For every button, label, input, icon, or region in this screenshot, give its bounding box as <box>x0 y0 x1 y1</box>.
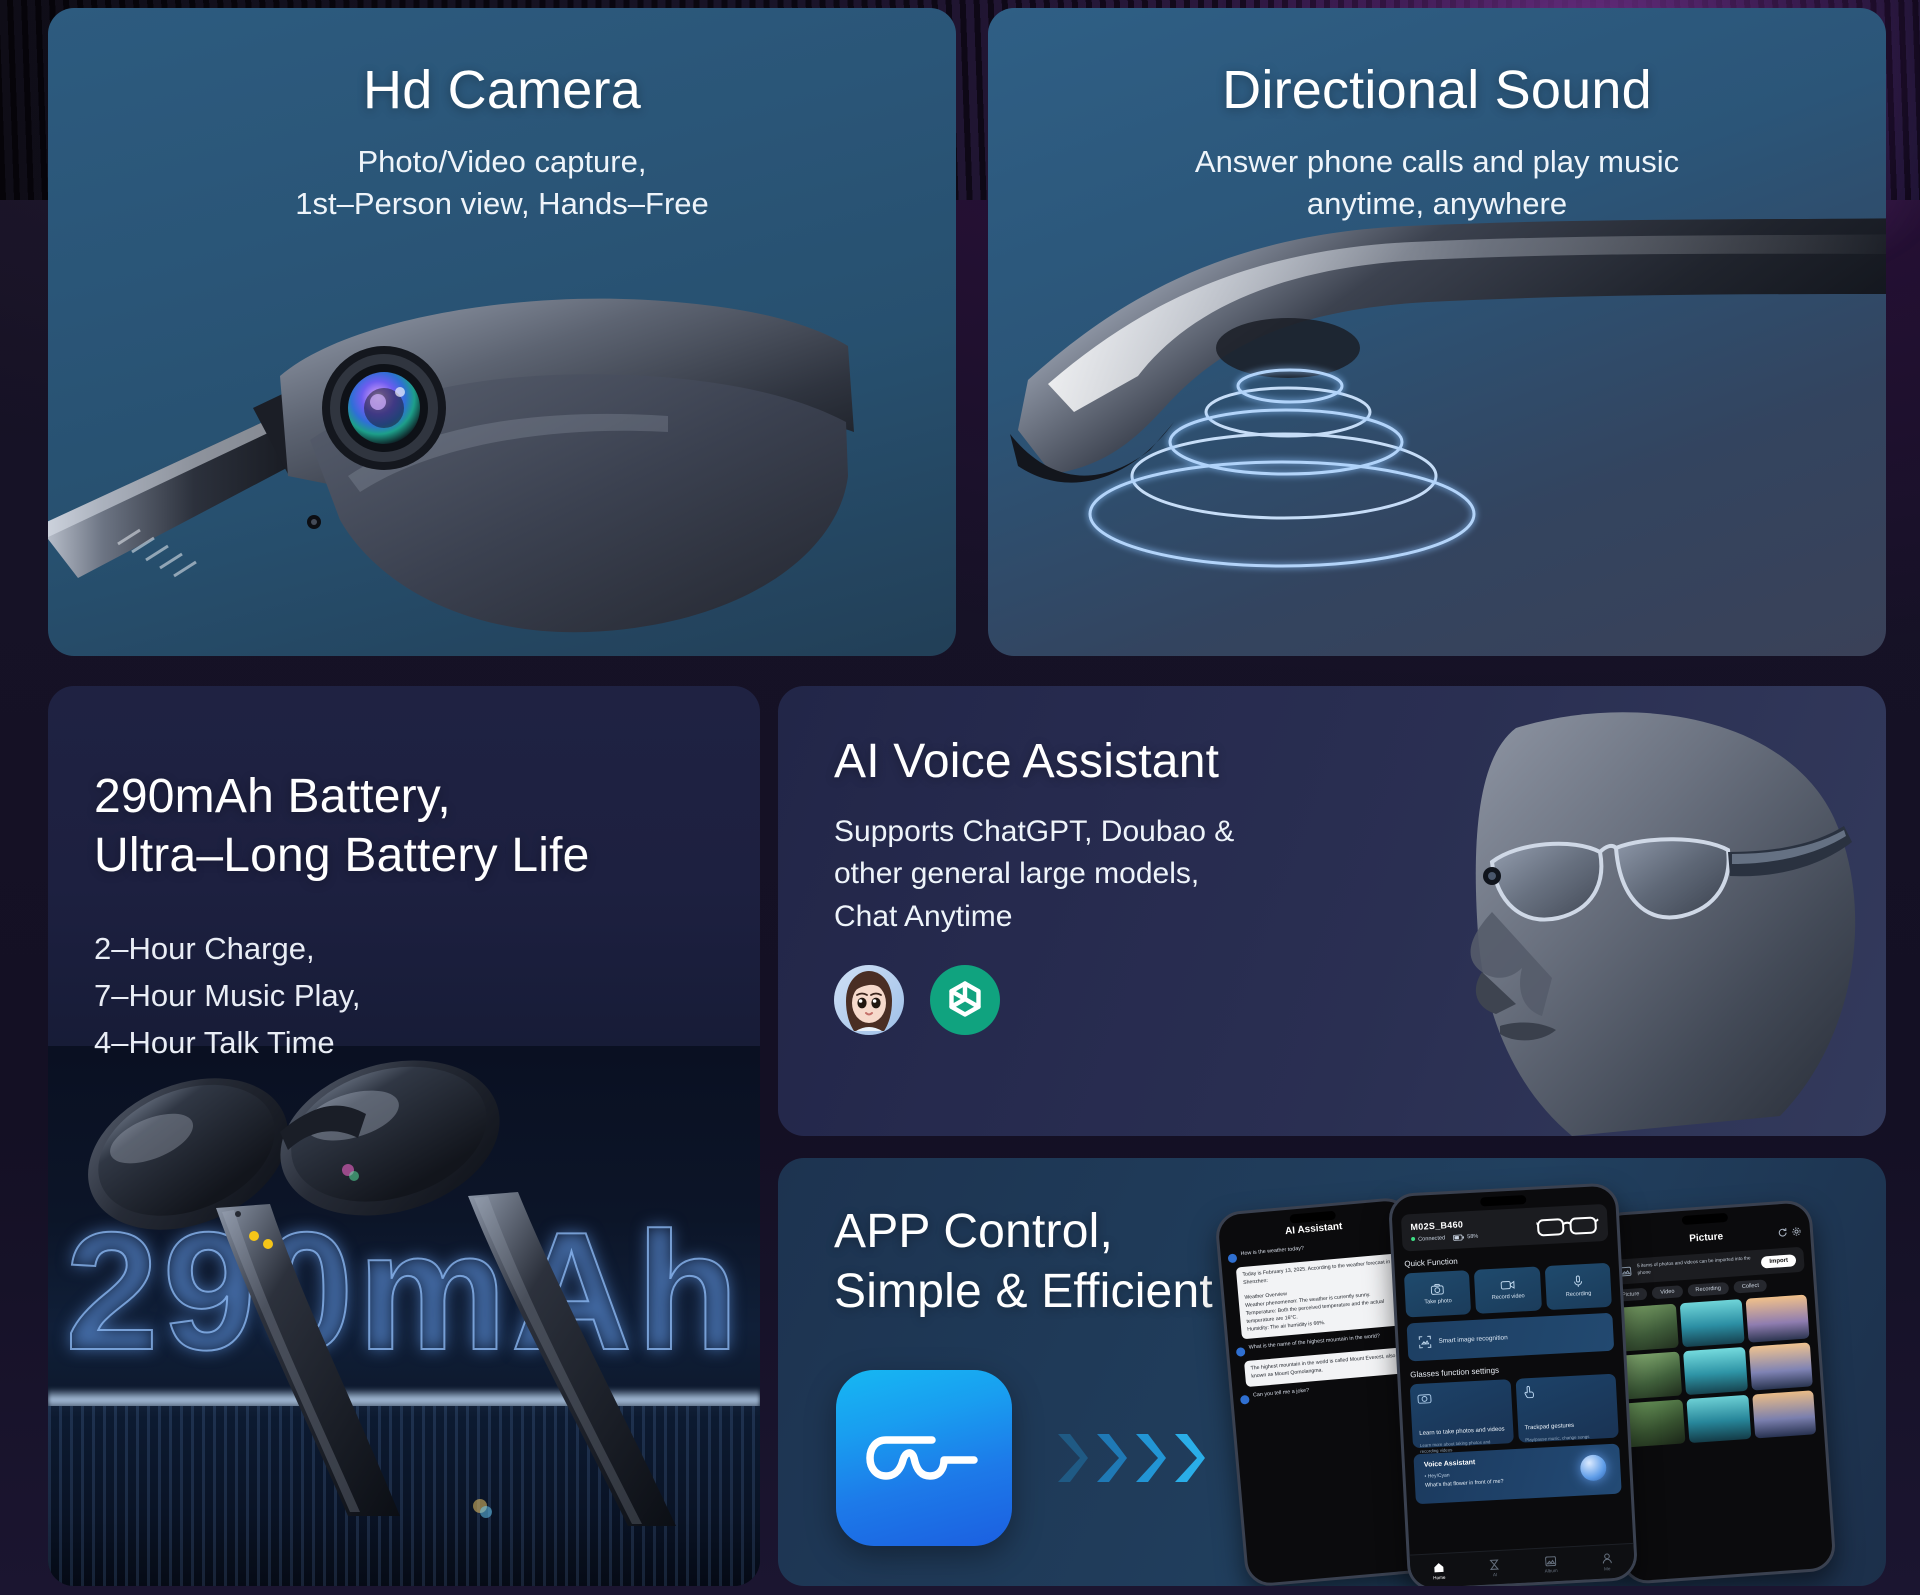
tab-me[interactable]: Me <box>1601 1553 1612 1571</box>
album-icon <box>1545 1556 1557 1567</box>
bottom-tab-bar: Home AI Album <box>1410 1543 1635 1586</box>
filter-chip-video[interactable]: Video <box>1652 1286 1683 1300</box>
quick-action-record-video[interactable]: Record video <box>1474 1266 1542 1313</box>
video-icon <box>1500 1280 1515 1291</box>
photo-thumbnail[interactable] <box>1683 1347 1747 1395</box>
card-directional-sound: Directional Sound Answer phone calls and… <box>988 8 1886 656</box>
card-app-control: APP Control, Simple & Efficient <box>778 1158 1886 1586</box>
tab-ai[interactable]: AI <box>1489 1558 1500 1576</box>
microphone-icon <box>1573 1275 1583 1287</box>
photo-thumbnail[interactable] <box>1745 1295 1809 1343</box>
photo-thumbnail[interactable] <box>1752 1391 1816 1439</box>
chevron-right-icon <box>1171 1430 1205 1486</box>
photo-thumbnail[interactable] <box>1622 1400 1686 1448</box>
photo-thumbnail[interactable] <box>1749 1343 1813 1391</box>
camera-card-subtitle: Photo/Video capture, 1st–Person view, Ha… <box>48 141 956 227</box>
picture-screen-title: Picture <box>1689 1231 1724 1244</box>
import-button[interactable]: Import <box>1761 1254 1796 1268</box>
phone-notch <box>1480 1195 1526 1206</box>
ai-card-title: AI Voice Assistant <box>834 736 1394 789</box>
chevron-right-icon <box>1054 1430 1088 1486</box>
settings-icon[interactable] <box>1792 1226 1802 1236</box>
settings-card-row: Learn to take photos and videos Learn mo… <box>1410 1374 1619 1449</box>
photo-thumbnail[interactable] <box>1687 1395 1751 1443</box>
quick-action-label: Record video <box>1492 1293 1525 1301</box>
chatgpt-logo-icon[interactable] <box>930 965 1000 1035</box>
filter-chip-collect[interactable]: Collect <box>1734 1280 1768 1294</box>
camera-subtitle-line-2: 1st–Person view, Hands–Free <box>48 183 956 226</box>
chevron-right-icon <box>1132 1430 1166 1486</box>
user-avatar <box>1240 1395 1250 1405</box>
quick-action-label: Take photo <box>1424 1298 1452 1305</box>
ai-card-subtitle: Supports ChatGPT, Doubao & other general… <box>834 811 1394 939</box>
setting-trackpad-gestures[interactable]: Trackpad gestures Play/pause music, chan… <box>1515 1374 1619 1443</box>
user-avatar <box>1228 1253 1238 1263</box>
phone-device-control[interactable]: M02S_B460 Connected 58% <box>1388 1182 1639 1586</box>
chat-answer: Today is February 13, 2025. According to… <box>1236 1253 1410 1340</box>
person-icon <box>1601 1553 1612 1565</box>
chevron-right-icon <box>1093 1430 1127 1486</box>
sound-card-subtitle: Answer phone calls and play music anytim… <box>988 141 1886 227</box>
home-icon <box>1433 1561 1445 1573</box>
camera-glasses-illustration <box>48 226 956 656</box>
photo-grid <box>1615 1295 1816 1448</box>
sound-card-title: Directional Sound <box>988 62 1886 119</box>
tab-album[interactable]: Album <box>1544 1556 1558 1574</box>
camera-subtitle-line-1: Photo/Video capture, <box>48 141 956 184</box>
card-battery: 290mAh <box>48 686 760 1586</box>
sound-subtitle-line-2: anytime, anywhere <box>988 183 1886 226</box>
tab-home[interactable]: Home <box>1432 1561 1445 1580</box>
camera-card-title: Hd Camera <box>48 62 956 119</box>
photo-thumbnail[interactable] <box>1680 1299 1744 1347</box>
card-ai-voice-assistant: AI Voice Assistant Supports ChatGPT, Dou… <box>778 686 1886 1136</box>
battery-card-title: 290mAh Battery, Ultra–Long Battery Life <box>94 768 734 885</box>
battery-title-line-1: 290mAh Battery, <box>94 768 734 827</box>
sound-subtitle-line-1: Answer phone calls and play music <box>988 141 1886 184</box>
battery-glasses-svg <box>48 1046 760 1586</box>
ai-model-logos <box>834 965 1394 1035</box>
chat-question: Can you tell me a joke? <box>1253 1388 1310 1401</box>
smart-image-recognition-button[interactable]: Smart image recognition <box>1407 1313 1615 1362</box>
glasses-outline-icon <box>864 1418 984 1498</box>
filter-chip-recording[interactable]: Recording <box>1687 1282 1729 1297</box>
glasses-outline-icon <box>1536 1213 1599 1238</box>
voice-assistant-card[interactable]: Voice Assistant • Hey!Cyan What's that f… <box>1413 1444 1621 1505</box>
quick-action-take-photo[interactable]: Take photo <box>1404 1270 1472 1317</box>
glasses-app-icon[interactable] <box>836 1370 1012 1546</box>
camera-icon <box>1417 1392 1432 1404</box>
import-banner-text: 5 items of photos and videos can be impo… <box>1637 1256 1756 1278</box>
connection-status: Connected <box>1411 1235 1445 1243</box>
battery-spec-list: 2–Hour Charge, 7–Hour Music Play, 4–Hour… <box>94 925 734 1066</box>
battery-product-illustration: 290mAh <box>48 1046 760 1586</box>
arrow-chevrons <box>1054 1430 1205 1486</box>
ai-subtitle-line-3: Chat Anytime <box>834 896 1394 939</box>
device-status-card[interactable]: M02S_B460 Connected 58% <box>1401 1204 1609 1252</box>
ai-subtitle-line-1: Supports ChatGPT, Doubao & <box>834 811 1394 854</box>
smart-recognition-label: Smart image recognition <box>1438 1334 1508 1345</box>
doubao-avatar-icon[interactable] <box>834 965 904 1035</box>
ai-card-text: AI Voice Assistant Supports ChatGPT, Dou… <box>834 736 1394 1035</box>
phone-mockups: AI Assistant How is the weather today? T… <box>1230 1186 1886 1586</box>
battery-card-text: 290mAh Battery, Ultra–Long Battery Life … <box>94 768 734 1066</box>
refresh-icon[interactable] <box>1778 1227 1788 1237</box>
setting-subtitle: Play/pause music, change songs <box>1525 1433 1612 1443</box>
user-avatar <box>1236 1347 1246 1357</box>
ai-subtitle-line-2: other general large models, <box>834 853 1394 896</box>
camera-card-text: Hd Camera Photo/Video capture, 1st–Perso… <box>48 62 956 226</box>
directional-sound-illustration <box>988 198 1886 656</box>
status-dot-icon <box>1411 1237 1415 1241</box>
quick-action-recording[interactable]: Recording <box>1544 1263 1612 1310</box>
head-wearing-glasses-illustration <box>1366 686 1886 1136</box>
battery-spec-item: 4–Hour Talk Time <box>94 1019 734 1066</box>
battery-status: 58% <box>1453 1234 1478 1241</box>
infographic-page: Hd Camera Photo/Video capture, 1st–Perso… <box>0 0 1920 1595</box>
chat-question: How is the weather today? <box>1240 1246 1304 1259</box>
ai-icon <box>1489 1558 1500 1570</box>
image-recognition-icon <box>1418 1335 1432 1349</box>
battery-title-line-2: Ultra–Long Battery Life <box>94 827 734 886</box>
quick-action-label: Recording <box>1566 1291 1592 1298</box>
setting-title: Trackpad gestures <box>1525 1421 1612 1433</box>
phone-notch <box>1682 1213 1729 1225</box>
quick-function-row: Take photo Record video <box>1404 1263 1612 1318</box>
battery-spec-item: 2–Hour Charge, <box>94 925 734 972</box>
sound-card-text: Directional Sound Answer phone calls and… <box>988 62 1886 226</box>
battery-icon <box>1453 1234 1464 1241</box>
setting-learn-photos[interactable]: Learn to take photos and videos Learn mo… <box>1410 1379 1514 1448</box>
battery-spec-item: 7–Hour Music Play, <box>94 972 734 1019</box>
hand-tap-icon <box>1522 1385 1535 1399</box>
setting-title: Learn to take photos and videos <box>1419 1426 1506 1438</box>
card-hd-camera: Hd Camera Photo/Video capture, 1st–Perso… <box>48 8 956 656</box>
camera-icon <box>1431 1283 1445 1295</box>
